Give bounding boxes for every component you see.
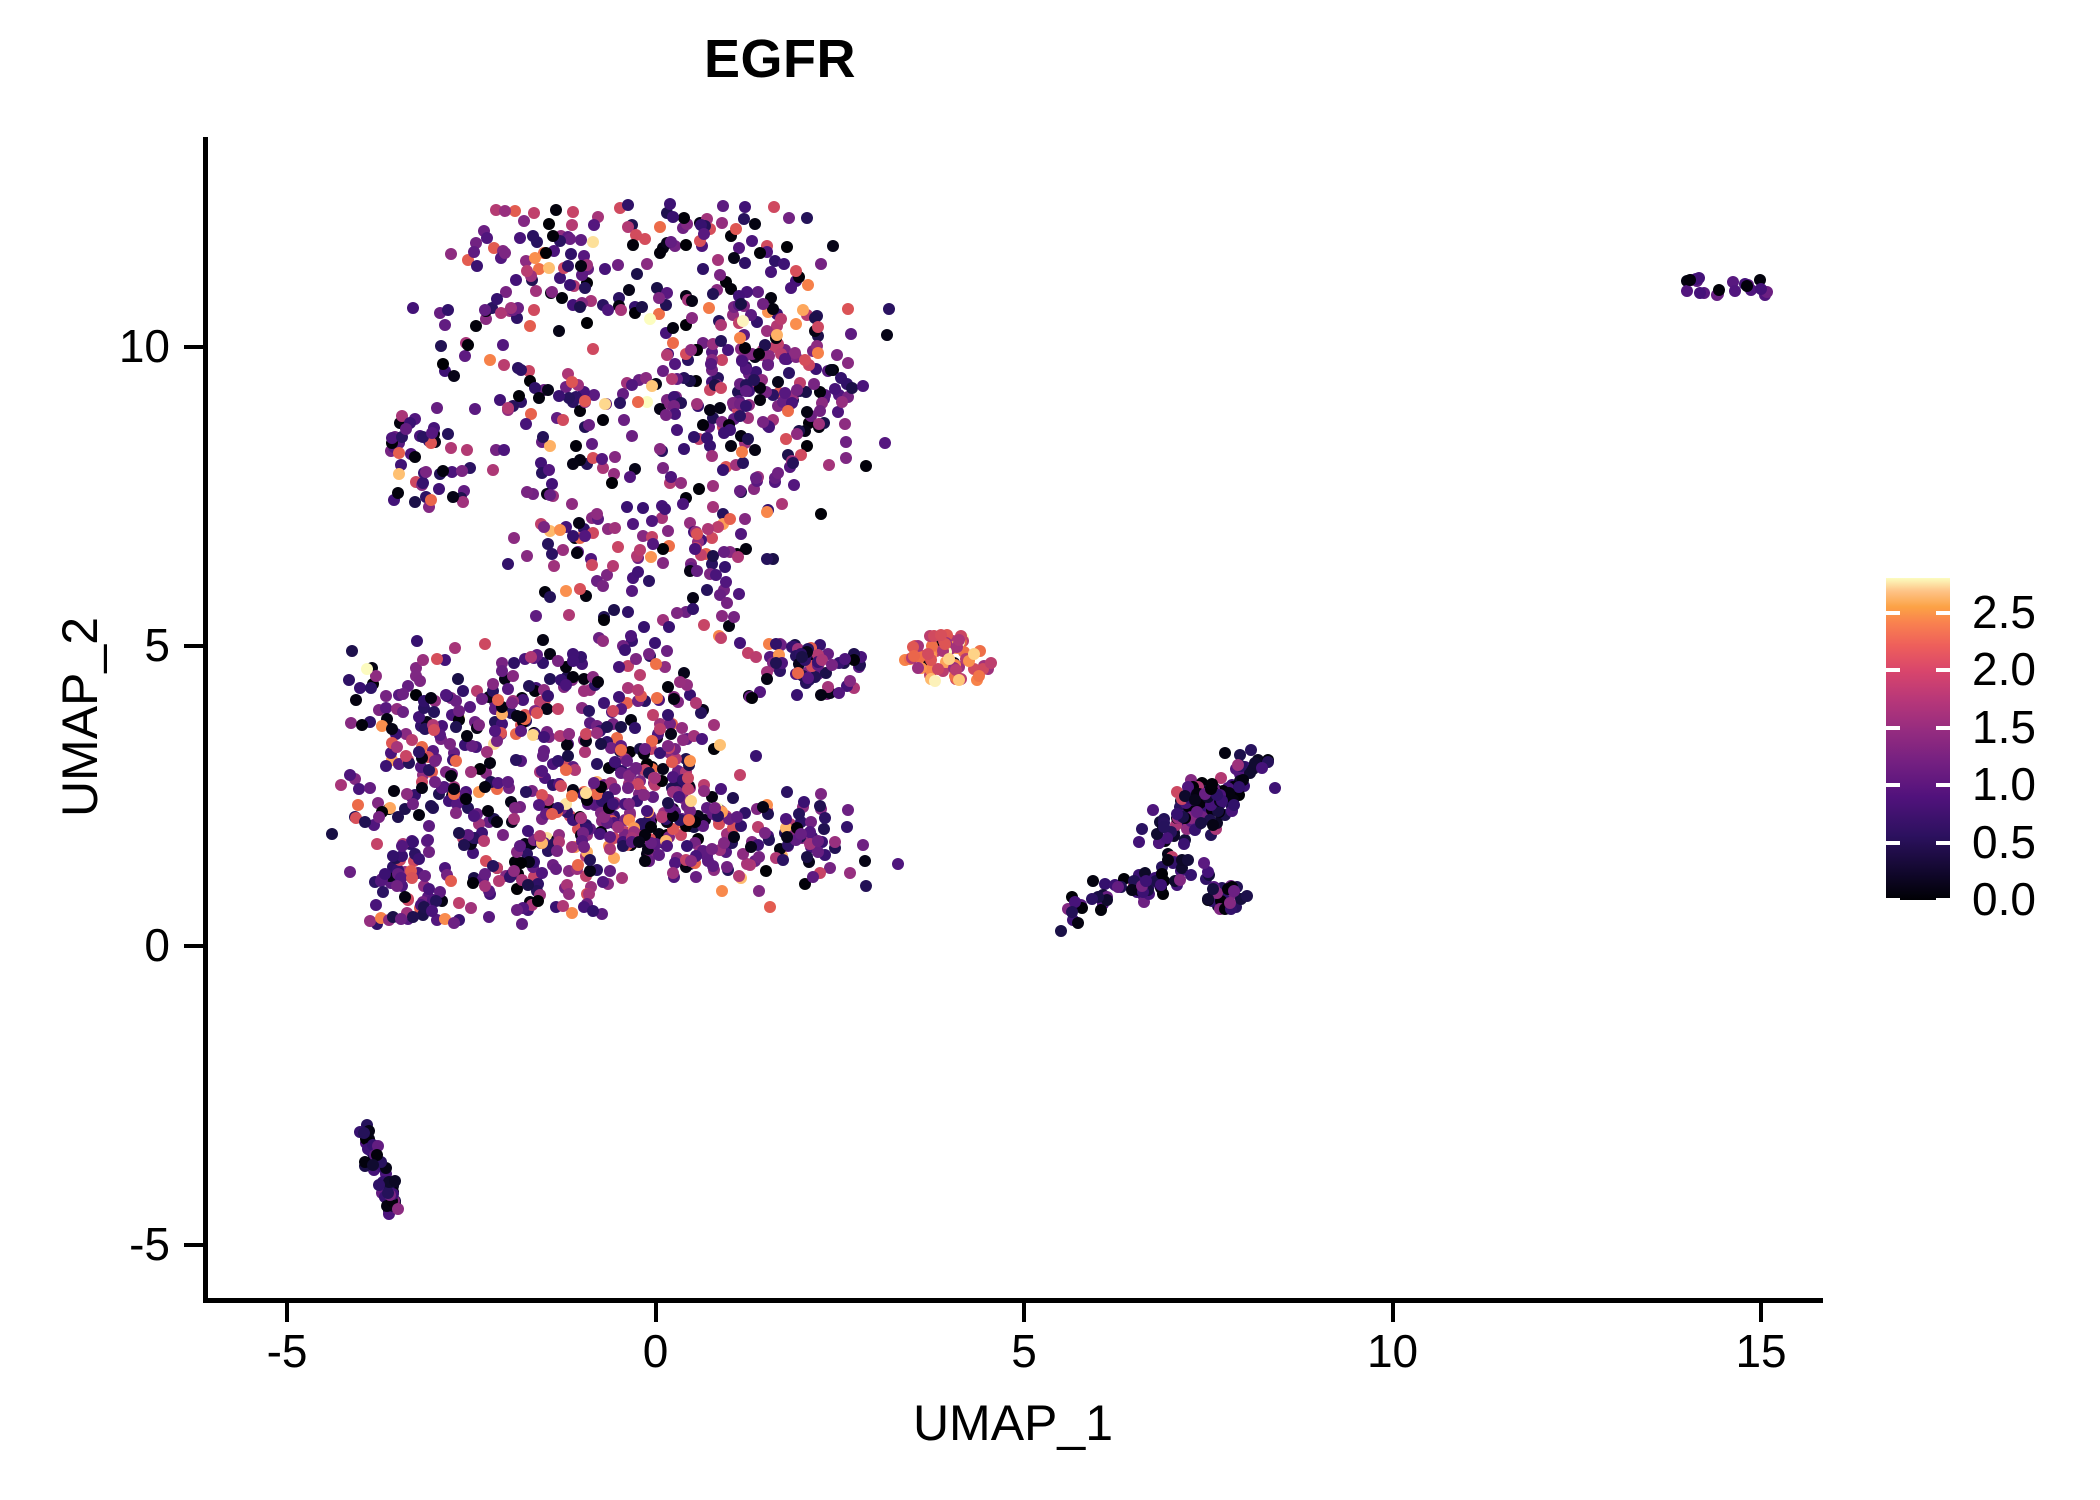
scatter-point	[839, 418, 851, 430]
scatter-point	[761, 506, 773, 518]
scatter-point	[544, 489, 556, 501]
scatter-point	[657, 557, 669, 569]
scatter-point	[1055, 925, 1067, 937]
scatter-point	[609, 756, 621, 768]
scatter-point	[764, 901, 776, 913]
scatter-point	[757, 416, 769, 428]
scatter-point	[737, 315, 749, 327]
scatter-point	[560, 585, 572, 597]
scatter-point	[663, 621, 675, 633]
scatter-point	[461, 444, 473, 456]
scatter-point	[1241, 890, 1253, 902]
scatter-point	[802, 279, 814, 291]
scatter-point	[721, 597, 733, 609]
scatter-point	[728, 611, 740, 623]
scatter-point	[831, 349, 843, 361]
scatter-point	[426, 427, 438, 439]
scatter-point	[827, 240, 839, 252]
colorbar-tick-label: 1.0	[1972, 761, 2100, 807]
scatter-point	[557, 414, 569, 426]
scatter-point	[445, 770, 457, 782]
colorbar-tick-label: 2.0	[1972, 646, 2100, 692]
scatter-point	[407, 836, 419, 848]
plot-panel	[206, 137, 1820, 1299]
scatter-point	[819, 812, 831, 824]
scatter-point	[654, 221, 666, 233]
scatter-point	[752, 286, 764, 298]
scatter-point	[550, 863, 562, 875]
scatter-point	[846, 382, 858, 394]
scatter-point	[641, 258, 653, 270]
scatter-point	[675, 477, 687, 489]
scatter-point	[450, 721, 462, 733]
scatter-point	[479, 781, 491, 793]
scatter-point	[450, 807, 462, 819]
scatter-point	[677, 498, 689, 510]
scatter-point	[618, 414, 630, 426]
scatter-point	[671, 424, 683, 436]
scatter-point	[737, 457, 749, 469]
x-tick-label: 5	[924, 1328, 1124, 1374]
scatter-point	[1161, 832, 1173, 844]
scatter-point	[1256, 762, 1268, 774]
scatter-point	[840, 436, 852, 448]
scatter-point	[693, 483, 705, 495]
scatter-point	[1228, 885, 1240, 897]
scatter-point	[762, 359, 774, 371]
colorbar-tick-label: 1.5	[1972, 704, 2100, 750]
scatter-point	[707, 480, 719, 492]
scatter-point	[542, 690, 554, 702]
scatter-point	[481, 232, 493, 244]
scatter-point	[566, 498, 578, 510]
scatter-point	[554, 524, 566, 536]
scatter-point	[812, 347, 824, 359]
scatter-point	[580, 787, 592, 799]
scatter-point	[791, 384, 803, 396]
scatter-point	[1269, 782, 1281, 794]
scatter-point	[445, 442, 457, 454]
scatter-point	[844, 675, 856, 687]
scatter-point	[685, 795, 697, 807]
scatter-point	[479, 304, 491, 316]
scatter-point	[662, 740, 674, 752]
scatter-point	[591, 727, 603, 739]
scatter-point	[716, 885, 728, 897]
scatter-point	[560, 764, 572, 776]
colorbar-tick-mark	[1886, 841, 1900, 845]
scatter-point	[575, 260, 587, 272]
scatter-point	[715, 319, 727, 331]
scatter-point	[818, 823, 830, 835]
scatter-point	[690, 697, 702, 709]
scatter-point	[667, 322, 679, 334]
scatter-point	[739, 201, 751, 213]
colorbar-tick-mark	[1936, 898, 1950, 902]
scatter-point	[714, 739, 726, 751]
scatter-point	[557, 544, 569, 556]
scatter-point	[591, 758, 603, 770]
scatter-point	[392, 811, 404, 823]
scatter-point	[579, 530, 591, 542]
scatter-point	[597, 635, 609, 647]
scatter-point	[622, 606, 634, 618]
scatter-point	[623, 284, 635, 296]
scatter-point	[567, 206, 579, 218]
colorbar-tick-label: 0.5	[1972, 819, 2100, 865]
x-tick-mark	[1391, 1303, 1395, 1322]
scatter-point	[502, 558, 514, 570]
scatter-point	[912, 662, 924, 674]
scatter-point	[796, 651, 808, 663]
scatter-point	[760, 865, 772, 877]
scatter-point	[619, 644, 631, 656]
scatter-point	[781, 241, 793, 253]
scatter-point	[471, 260, 483, 272]
x-tick-label: -5	[187, 1328, 387, 1374]
scatter-point	[425, 494, 437, 506]
scatter-point	[745, 841, 757, 853]
scatter-point	[667, 211, 679, 223]
scatter-point	[440, 689, 452, 701]
scatter-point	[607, 705, 619, 717]
scatter-point	[1095, 904, 1107, 916]
scatter-point	[439, 319, 451, 331]
scatter-point	[728, 831, 740, 843]
colorbar-tick-mark	[1936, 611, 1950, 615]
scatter-point	[388, 785, 400, 797]
scatter-point	[778, 258, 790, 270]
scatter-point	[606, 477, 618, 489]
scatter-point	[836, 396, 848, 408]
scatter-point	[417, 477, 429, 489]
scatter-point	[1195, 817, 1207, 829]
scatter-point	[574, 301, 586, 313]
scatter-point	[860, 880, 872, 892]
scatter-point	[608, 604, 620, 616]
scatter-point	[707, 288, 719, 300]
scatter-point	[798, 796, 810, 808]
scatter-point	[423, 820, 435, 832]
scatter-point	[599, 263, 611, 275]
scatter-point	[586, 559, 598, 571]
scatter-point	[326, 828, 338, 840]
scatter-point	[621, 501, 633, 513]
scatter-point	[465, 766, 477, 778]
scatter-point	[701, 432, 713, 444]
scatter-point	[431, 653, 443, 665]
scatter-point	[757, 298, 769, 310]
scatter-point	[842, 303, 854, 315]
scatter-point	[753, 348, 765, 360]
scatter-point	[624, 471, 636, 483]
scatter-point	[636, 301, 648, 313]
scatter-point	[396, 840, 408, 852]
scatter-point	[750, 651, 762, 663]
colorbar-tick-mark	[1886, 783, 1900, 787]
scatter-point	[715, 632, 727, 644]
scatter-point	[515, 725, 527, 737]
scatter-point	[496, 665, 508, 677]
page-title: EGFR	[0, 32, 1560, 86]
scatter-point	[533, 392, 545, 404]
scatter-point	[753, 885, 765, 897]
scatter-point	[681, 840, 693, 852]
scatter-point	[508, 865, 520, 877]
scatter-point	[422, 834, 434, 846]
scatter-point	[478, 835, 490, 847]
scatter-point	[720, 576, 732, 588]
scatter-point	[1087, 875, 1099, 887]
scatter-point	[456, 465, 468, 477]
scatter-point	[612, 821, 624, 833]
y-tick-mark	[184, 644, 203, 648]
scatter-point	[686, 312, 698, 324]
scatter-point	[929, 675, 941, 687]
scatter-point	[717, 464, 729, 476]
scatter-point	[364, 915, 376, 927]
scatter-point	[612, 259, 624, 271]
scatter-point	[825, 364, 837, 376]
scatter-point	[393, 447, 405, 459]
scatter-point	[1066, 906, 1078, 918]
scatter-point	[407, 798, 419, 810]
scatter-point	[566, 790, 578, 802]
scatter-point	[583, 419, 595, 431]
scatter-point	[826, 659, 838, 671]
scatter-point	[770, 638, 782, 650]
scatter-point	[409, 451, 421, 463]
scatter-point	[510, 274, 522, 286]
scatter-point	[465, 902, 477, 914]
scatter-point	[634, 669, 646, 681]
scatter-point	[814, 405, 826, 417]
scatter-point	[532, 895, 544, 907]
scatter-point	[483, 911, 495, 923]
scatter-point	[667, 867, 679, 879]
scatter-point	[491, 293, 503, 305]
scatter-point	[727, 792, 739, 804]
scatter-point	[1178, 838, 1190, 850]
scatter-point	[602, 304, 614, 316]
scatter-point	[356, 719, 368, 731]
scatter-point	[413, 853, 425, 865]
scatter-point	[686, 295, 698, 307]
scatter-point	[669, 358, 681, 370]
scatter-point	[335, 779, 347, 791]
scatter-point	[749, 218, 761, 230]
scatter-point	[386, 723, 398, 735]
colorbar-gradient	[1886, 578, 1950, 900]
scatter-point	[597, 414, 609, 426]
scatter-point	[1185, 869, 1197, 881]
scatter-point	[637, 502, 649, 514]
scatter-point	[690, 871, 702, 883]
scatter-point	[570, 440, 582, 452]
scatter-point	[560, 679, 572, 691]
scatter-point	[1713, 284, 1725, 296]
scatter-point	[613, 691, 625, 703]
scatter-point	[612, 541, 624, 553]
scatter-point	[407, 911, 419, 923]
scatter-point	[484, 354, 496, 366]
scatter-point	[579, 282, 591, 294]
scatter-point	[506, 697, 518, 709]
scatter-point	[775, 313, 787, 325]
scatter-point	[781, 786, 793, 798]
scatter-point	[597, 580, 609, 592]
y-tick-mark	[184, 944, 203, 948]
scatter-point	[968, 648, 980, 660]
scatter-point	[350, 694, 362, 706]
scatter-point	[460, 793, 472, 805]
scatter-point	[587, 343, 599, 355]
scatter-point	[673, 791, 685, 803]
x-tick-label: 15	[1661, 1328, 1861, 1374]
scatter-point	[638, 789, 650, 801]
scatter-point	[728, 252, 740, 264]
scatter-point	[546, 548, 558, 560]
scatter-point	[783, 212, 795, 224]
scatter-point	[429, 776, 441, 788]
scatter-point	[733, 588, 745, 600]
scatter-point	[790, 265, 802, 277]
scatter-point	[859, 855, 871, 867]
scatter-point	[736, 355, 748, 367]
scatter-point	[407, 302, 419, 314]
scatter-point	[575, 234, 587, 246]
scatter-point	[489, 725, 501, 737]
scatter-point	[644, 313, 656, 325]
scatter-point	[563, 888, 575, 900]
scatter-point	[740, 400, 752, 412]
scatter-point	[469, 403, 481, 415]
scatter-point	[703, 302, 715, 314]
scatter-point	[373, 811, 385, 823]
scatter-point	[367, 1159, 379, 1171]
scatter-point	[833, 687, 845, 699]
scatter-point	[1755, 283, 1767, 295]
scatter-point	[627, 518, 639, 530]
scatter-point	[761, 673, 773, 685]
scatter-point	[795, 828, 807, 840]
scatter-point	[706, 450, 718, 462]
scatter-point	[653, 292, 665, 304]
scatter-point	[380, 760, 392, 772]
scatter-point	[497, 829, 509, 841]
scatter-point	[579, 746, 591, 758]
scatter-point	[892, 858, 904, 870]
colorbar-tick-mark	[1936, 726, 1950, 730]
scatter-point	[645, 551, 657, 563]
scatter-point	[622, 782, 634, 794]
scatter-point	[691, 398, 703, 410]
scatter-point	[445, 875, 457, 887]
scatter-point	[1086, 893, 1098, 905]
scatter-point	[638, 621, 650, 633]
scatter-point	[592, 676, 604, 688]
colorbar-tick-mark	[1886, 898, 1900, 902]
scatter-point	[413, 746, 425, 758]
scatter-point	[651, 692, 663, 704]
scatter-point	[555, 780, 567, 792]
scatter-point	[698, 228, 710, 240]
scatter-point	[458, 839, 470, 851]
scatter-point	[667, 337, 679, 349]
scatter-point	[685, 344, 697, 356]
colorbar-tick-label: 2.5	[1972, 589, 2100, 635]
scatter-point	[922, 648, 934, 660]
scatter-point	[691, 565, 703, 577]
scatter-point	[524, 320, 536, 332]
scatter-point	[772, 467, 784, 479]
scatter-point	[571, 547, 583, 559]
scatter-point	[537, 750, 549, 762]
scatter-point	[562, 260, 574, 272]
scatter-point	[540, 247, 552, 259]
scatter-point	[400, 750, 412, 762]
x-tick-mark	[1022, 1303, 1026, 1322]
scatter-point	[801, 851, 813, 863]
scatter-point	[507, 670, 519, 682]
scatter-point	[840, 452, 852, 464]
scatter-point	[551, 845, 563, 857]
scatter-point	[448, 917, 460, 929]
scatter-point	[479, 638, 491, 650]
scatter-point	[537, 634, 549, 646]
scatter-point	[442, 428, 454, 440]
scatter-point	[622, 199, 634, 211]
scatter-point	[423, 846, 435, 858]
scatter-point	[665, 728, 677, 740]
scatter-point	[714, 402, 726, 414]
scatter-point	[497, 339, 509, 351]
scatter-point	[491, 735, 503, 747]
scatter-point	[1198, 857, 1210, 869]
scatter-point	[732, 551, 744, 563]
scatter-point	[397, 706, 409, 718]
scatter-point	[420, 466, 432, 478]
scatter-point	[601, 721, 613, 733]
scatter-point	[1207, 819, 1219, 831]
scatter-point	[857, 380, 869, 392]
scatter-point	[674, 676, 686, 688]
scatter-point	[734, 769, 746, 781]
scatter-point	[428, 706, 440, 718]
scatter-point	[546, 286, 558, 298]
scatter-point	[702, 523, 714, 535]
scatter-point	[493, 875, 505, 887]
scatter-point	[780, 813, 792, 825]
scatter-point	[1171, 808, 1183, 820]
scatter-point	[419, 870, 431, 882]
scatter-point	[742, 433, 754, 445]
scatter-point	[985, 657, 997, 669]
scatter-point	[1681, 285, 1693, 297]
scatter-point	[750, 472, 762, 484]
scatter-point	[346, 645, 358, 657]
scatter-point	[581, 317, 593, 329]
scatter-point	[557, 900, 569, 912]
scatter-point	[563, 609, 575, 621]
scatter-point	[716, 610, 728, 622]
scatter-point	[452, 673, 464, 685]
scatter-point	[860, 460, 872, 472]
scatter-point	[750, 750, 762, 762]
scatter-point	[547, 230, 559, 242]
scatter-point	[788, 479, 800, 491]
scatter-point	[1162, 854, 1174, 866]
